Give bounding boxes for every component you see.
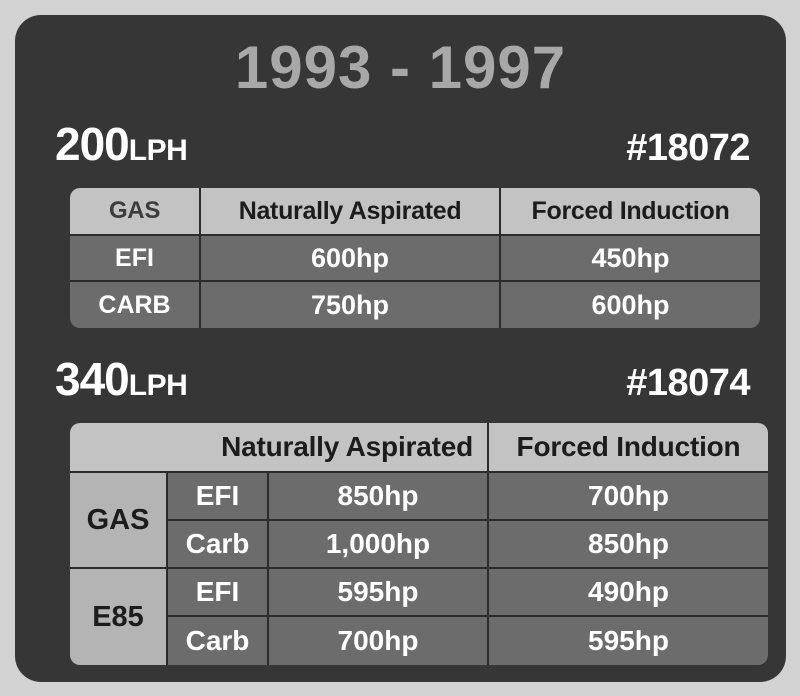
section-heading-200lph: 200 LPH #18072 <box>55 121 750 167</box>
row-label-gas-carb: Carb <box>168 521 269 569</box>
table-header-row: Naturally Aspirated Forced Induction <box>70 423 768 473</box>
table-header-row: GAS Naturally Aspirated Forced Induction <box>70 188 760 236</box>
lph-value: 340 <box>55 356 129 402</box>
value-carb-forced-induction: 600hp <box>501 282 760 328</box>
lph-unit: LPH <box>129 136 188 166</box>
row-label-e85-efi: EFI <box>168 569 269 617</box>
value-carb-naturally-aspirated: 750hp <box>201 282 501 328</box>
table-row: Carb 1,000hp 850hp <box>168 521 768 569</box>
row-label-carb: CARB <box>70 282 201 328</box>
header-cell-fuel: GAS <box>70 188 201 236</box>
spec-rows: EFI 850hp 700hp Carb 1,000hp 850hp EFI 5… <box>168 473 768 665</box>
value-efi-naturally-aspirated: 600hp <box>201 236 501 282</box>
table-body: GAS E85 EFI 850hp 700hp Carb 1,000hp 850… <box>70 473 768 665</box>
value-gas-efi-naturally-aspirated: 850hp <box>269 473 489 521</box>
part-number-18074: #18074 <box>626 364 750 402</box>
value-e85-carb-naturally-aspirated: 700hp <box>269 617 489 665</box>
table-row: EFI 595hp 490hp <box>168 569 768 617</box>
table-row: Carb 700hp 595hp <box>168 617 768 665</box>
value-gas-carb-forced-induction: 850hp <box>489 521 768 569</box>
value-gas-carb-naturally-aspirated: 1,000hp <box>269 521 489 569</box>
table-row: CARB 750hp 600hp <box>70 282 760 328</box>
header-cell-naturally-aspirated: Naturally Aspirated <box>70 423 489 473</box>
value-e85-carb-forced-induction: 595hp <box>489 617 768 665</box>
fuel-group-label-gas: GAS <box>70 473 168 569</box>
lph-value: 200 <box>55 121 129 167</box>
row-label-e85-carb: Carb <box>168 617 269 665</box>
table-row: EFI 850hp 700hp <box>168 473 768 521</box>
value-e85-efi-naturally-aspirated: 595hp <box>269 569 489 617</box>
part-number-18072: #18072 <box>626 129 750 167</box>
header-cell-forced-induction: Forced Induction <box>501 188 760 236</box>
fuel-group-label-e85: E85 <box>70 569 168 665</box>
lph-rating-200: 200 LPH <box>55 121 187 167</box>
header-cell-naturally-aspirated: Naturally Aspirated <box>201 188 501 236</box>
page-title: 1993 - 1997 <box>15 37 786 99</box>
spec-table-200lph: GAS Naturally Aspirated Forced Induction… <box>70 188 760 328</box>
lph-unit: LPH <box>129 371 188 401</box>
section-heading-340lph: 340 LPH #18074 <box>55 356 750 402</box>
value-efi-forced-induction: 450hp <box>501 236 760 282</box>
value-gas-efi-forced-induction: 700hp <box>489 473 768 521</box>
lph-rating-340: 340 LPH <box>55 356 187 402</box>
table-row: EFI 600hp 450hp <box>70 236 760 282</box>
value-e85-efi-forced-induction: 490hp <box>489 569 768 617</box>
spec-card: 1993 - 1997 200 LPH #18072 GAS Naturally… <box>15 15 786 682</box>
fuel-type-column: GAS E85 <box>70 473 168 665</box>
row-label-gas-efi: EFI <box>168 473 269 521</box>
header-cell-forced-induction: Forced Induction <box>489 423 768 473</box>
spec-table-340lph: Naturally Aspirated Forced Induction GAS… <box>70 423 768 665</box>
row-label-efi: EFI <box>70 236 201 282</box>
